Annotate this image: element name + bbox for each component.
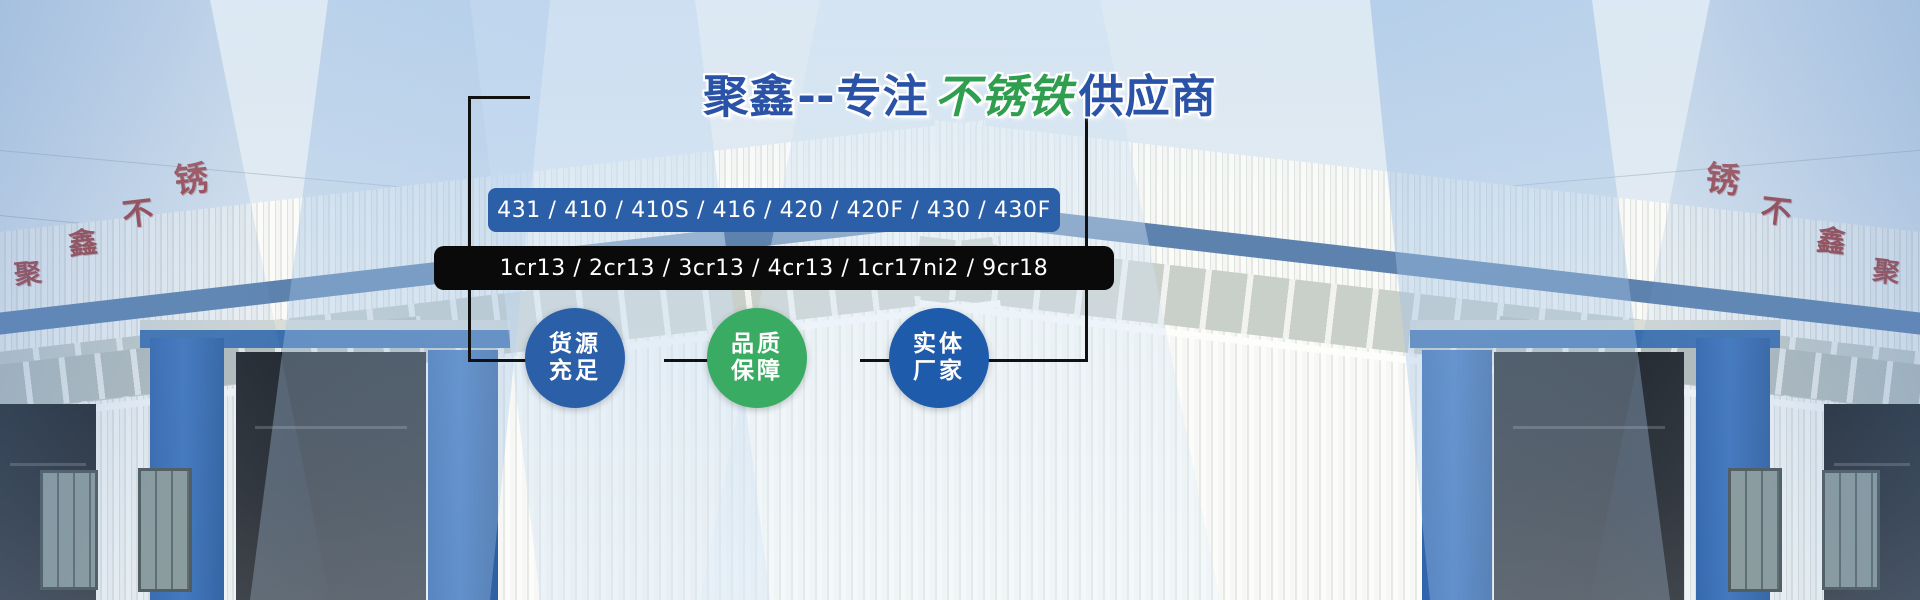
- badge-line-1: 货源: [549, 331, 601, 358]
- headline-part-supplier: 供应商: [1079, 74, 1217, 119]
- badge-group: 货源 充足 品质 保障 实体 厂家: [525, 308, 1035, 408]
- badge-real-factory: 实体 厂家: [889, 308, 989, 408]
- headline-part-brand: 聚鑫: [703, 74, 795, 119]
- badge-supply-sufficient: 货源 充足: [525, 308, 625, 408]
- barred-window: [40, 470, 98, 590]
- building-signage-char: 聚: [12, 251, 43, 293]
- grade-bar-secondary: 1cr13 / 2cr13 / 3cr13 / 4cr13 / 1cr17ni2…: [434, 246, 1114, 290]
- building-signage-char: 聚: [1871, 249, 1902, 291]
- grade-bar-primary: 431 / 410 / 410S / 416 / 420 / 420F / 43…: [488, 188, 1060, 232]
- frame-edge-right: [1085, 96, 1088, 362]
- badge-line-2: 厂家: [913, 358, 965, 385]
- badge-line-1: 品质: [731, 331, 783, 358]
- headline: 聚鑫--专注不锈铁供应商: [0, 74, 1920, 119]
- barred-window: [1728, 468, 1782, 592]
- headline-part-focus: 专注: [837, 74, 929, 119]
- badge-line-2: 保障: [731, 358, 783, 385]
- badge-line-1: 实体: [913, 331, 965, 358]
- factory-bay-opening: [236, 352, 426, 600]
- building-signage-char: 鑫: [1815, 216, 1849, 261]
- barred-window: [138, 468, 192, 592]
- factory-bay-opening: [1494, 352, 1684, 600]
- building-signage-char: 鑫: [66, 218, 100, 263]
- headline-dash: --: [795, 74, 836, 119]
- badge-quality-assured: 品质 保障: [707, 308, 807, 408]
- barred-window: [1822, 470, 1880, 590]
- blue-pillar: [428, 350, 498, 600]
- blue-pillar: [1422, 350, 1492, 600]
- badge-line-2: 充足: [549, 358, 601, 385]
- banner-stage: 锈 不 鑫 聚 锈 不 鑫 聚: [0, 0, 1920, 600]
- frame-edge-left: [468, 96, 471, 362]
- headline-part-highlight: 不锈铁: [929, 74, 1079, 119]
